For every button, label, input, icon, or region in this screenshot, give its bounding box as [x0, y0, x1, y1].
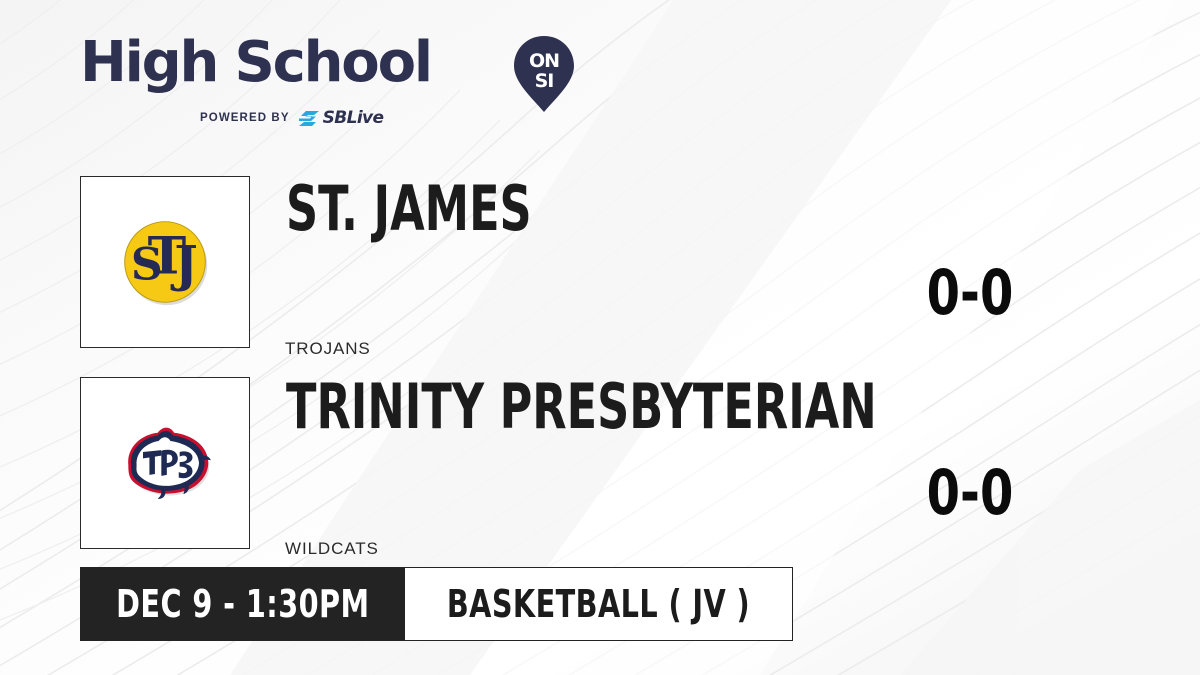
tps-wildcat-logo — [110, 417, 220, 509]
brand-lockup: High School ON SI POWERED BY SBLive — [80, 32, 510, 132]
team-logo-box: S T J — [80, 176, 250, 348]
on-si-pin-icon: ON SI — [512, 34, 576, 114]
game-datetime-label: DEC 9 - 1:30PM — [116, 585, 369, 623]
stj-monogram-logo: S T J — [117, 214, 213, 310]
sblive-wordmark: SBLive — [323, 110, 384, 127]
game-datetime-badge: DEC 9 - 1:30PM — [80, 567, 405, 641]
high-school-wordmark: High School — [80, 32, 510, 94]
svg-text:SI: SI — [535, 70, 554, 92]
team-name: TRINITY PRESBYTERIAN — [286, 376, 877, 438]
game-sport-badge: BASKETBALL ( JV ) — [405, 567, 793, 641]
sblive-logo: SBLive — [297, 109, 384, 128]
game-sport-label: BASKETBALL ( JV ) — [447, 585, 750, 623]
svg-text:ON: ON — [529, 50, 559, 72]
team-logo-box — [80, 377, 250, 549]
svg-text:J: J — [170, 234, 198, 293]
team-name: ST. JAMES — [286, 178, 532, 240]
team-score: 0-0 — [884, 462, 1056, 524]
powered-by-label: POWERED BY — [200, 112, 290, 124]
sblive-s-mark — [297, 109, 321, 128]
team-mascot: TROJANS — [285, 339, 371, 359]
powered-by-sblive: POWERED BY SBLive — [200, 108, 383, 128]
team-mascot: WILDCATS — [285, 539, 379, 559]
team-score: 0-0 — [884, 262, 1056, 324]
